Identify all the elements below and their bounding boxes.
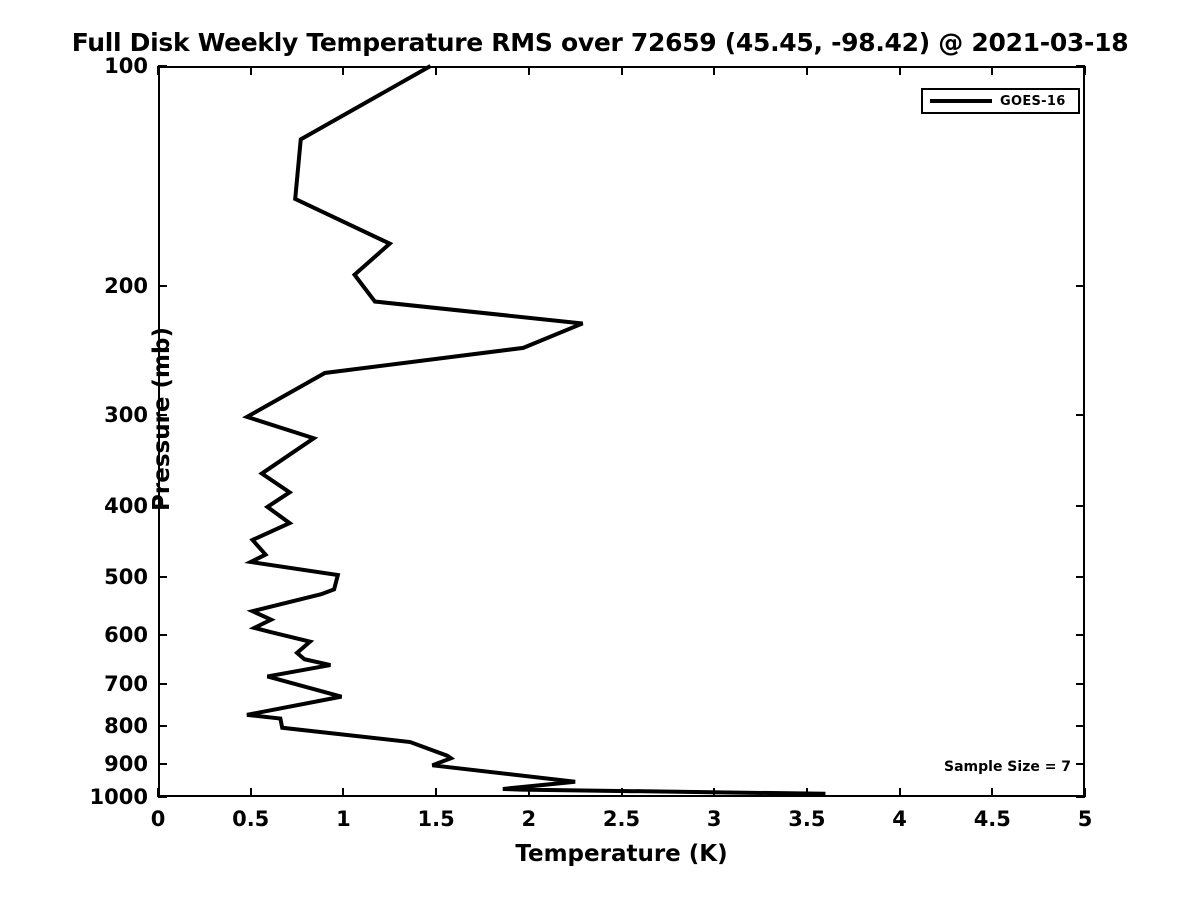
y-axis-label: Pressure (mb) [149,169,175,669]
plot-area: 1002003004005006007008009001000 00.511.5… [158,66,1085,797]
x-tick-label-0: 0 [151,807,166,831]
chart-legend[interactable]: GOES-16 [921,88,1080,114]
y-tick-label-1000: 1000 [90,785,148,809]
data-series-goes-16 [247,66,825,794]
y-tick-label-800: 800 [104,714,148,738]
x-tick-label-1.5: 1.5 [417,807,454,831]
x-tick-label-4: 4 [892,807,907,831]
chart-figure: Full Disk Weekly Temperature RMS over 72… [0,0,1200,900]
y-tick-label-100: 100 [104,54,148,78]
legend-label-goes-16: GOES-16 [1000,94,1066,109]
x-tick-label-0.5: 0.5 [232,807,269,831]
sample-size-annotation: Sample Size = 7 [944,759,1071,775]
chart-title: Full Disk Weekly Temperature RMS over 72… [0,28,1200,57]
x-tick-label-3.5: 3.5 [788,807,825,831]
x-axis-label: Temperature (K) [158,841,1085,867]
x-tick-label-2: 2 [521,807,536,831]
y-tick-label-200: 200 [104,274,148,298]
x-tick-label-4.5: 4.5 [974,807,1011,831]
y-tick-label-600: 600 [104,623,148,647]
legend-line-swatch [930,99,992,103]
x-tick-label-5: 5 [1078,807,1093,831]
y-tick-label-300: 300 [104,403,148,427]
y-tick-label-900: 900 [104,752,148,776]
data-plot-svg [158,66,1085,797]
y-tick-label-400: 400 [104,494,148,518]
x-tick-label-2.5: 2.5 [603,807,640,831]
x-tick-label-3: 3 [707,807,722,831]
y-tick-label-500: 500 [104,565,148,589]
x-tick-label-1: 1 [336,807,351,831]
y-tick-label-700: 700 [104,672,148,696]
